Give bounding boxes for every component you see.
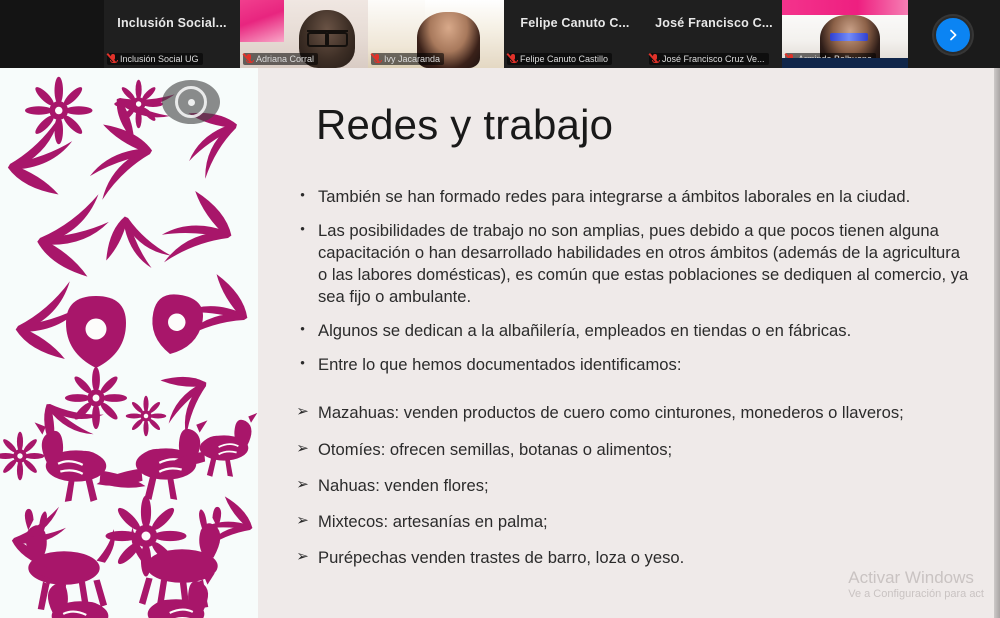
shared-slide: Redes y trabajo • También se han formado… bbox=[0, 68, 1000, 618]
mic-muted-icon bbox=[373, 54, 381, 64]
participant-tile-3[interactable]: Felipe Canuto C... Felipe Canuto Castill… bbox=[504, 0, 646, 68]
participant-tile-4[interactable]: José Francisco C... José Francisco Cruz … bbox=[646, 0, 782, 68]
sub-bullet-text: Purépechas venden trastes de barro, loza… bbox=[318, 547, 970, 569]
sub-bullet-text: Mazahuas: venden productos de cuero como… bbox=[318, 402, 970, 424]
glasses-shape bbox=[307, 30, 348, 38]
participant-tile-5[interactable]: Arminda Balbuena bbox=[782, 0, 908, 68]
screen-glow-shape bbox=[830, 33, 868, 42]
participant-name-label: Felipe Canuto Castillo bbox=[520, 54, 608, 64]
bullet-marker: • bbox=[296, 320, 309, 338]
mic-muted-icon bbox=[509, 54, 517, 64]
sub-bullet-marker: ➢ bbox=[296, 439, 309, 459]
bullet-marker: • bbox=[296, 220, 309, 238]
participant-name-label: Ivy Jacaranda bbox=[384, 54, 440, 64]
bullet-text: Algunos se dedican a la albañilería, emp… bbox=[318, 320, 970, 342]
slide-bullet-list: • También se han formado redes para inte… bbox=[296, 186, 970, 583]
participant-video bbox=[782, 0, 908, 68]
participant-display-name: Inclusión Social... bbox=[104, 16, 240, 30]
sub-bullet-text: Mixtecos: artesanías en palma; bbox=[318, 511, 970, 533]
mic-muted-icon bbox=[651, 54, 659, 64]
mic-muted-icon bbox=[245, 54, 253, 64]
participant-tile-0[interactable]: Inclusión Social... Inclusión Social UG bbox=[104, 0, 240, 68]
sub-bullet-item: ➢ Purépechas venden trastes de barro, lo… bbox=[296, 547, 970, 569]
participant-name-bar: Felipe Canuto Castillo bbox=[507, 53, 612, 65]
sub-bullet-marker: ➢ bbox=[296, 475, 309, 495]
participant-display-name: Felipe Canuto C... bbox=[504, 16, 646, 30]
embroidery-pattern bbox=[0, 68, 258, 618]
bullet-marker: • bbox=[296, 186, 309, 204]
mic-muted-icon bbox=[109, 54, 117, 64]
bullet-marker: • bbox=[296, 354, 309, 372]
sub-bullet-marker: ➢ bbox=[296, 547, 309, 567]
participant-tile-1[interactable]: Adriana Corral bbox=[240, 0, 368, 68]
participant-name-bar: Inclusión Social UG bbox=[107, 53, 203, 65]
bullet-item: • Entre lo que hemos documentados identi… bbox=[296, 354, 970, 376]
sub-bullet-text: Nahuas: venden flores; bbox=[318, 475, 970, 497]
bullet-item: • Las posibilidades de trabajo no son am… bbox=[296, 220, 970, 308]
otomi-embroidery-artwork bbox=[0, 68, 258, 618]
sub-bullet-item: ➢ Mazahuas: venden productos de cuero co… bbox=[296, 402, 970, 424]
participant-name-bar: Adriana Corral bbox=[243, 53, 318, 65]
filmstrip-next-page-button[interactable] bbox=[934, 16, 972, 54]
filmstrip-spacer-left bbox=[0, 0, 104, 68]
participant-filmstrip: Inclusión Social... Inclusión Social UG … bbox=[0, 0, 1000, 68]
bullet-item: • Algunos se dedican a la albañilería, e… bbox=[296, 320, 970, 342]
participant-name-label: Inclusión Social UG bbox=[120, 54, 199, 64]
sub-bullet-text: Otomíes: ofrecen semillas, botanas o ali… bbox=[318, 439, 970, 461]
bullet-text: Las posibilidades de trabajo no son ampl… bbox=[318, 220, 970, 308]
participant-name-bar: José Francisco Cruz Ve... bbox=[649, 53, 769, 65]
sub-bullet-marker: ➢ bbox=[296, 402, 309, 422]
participant-name-label: José Francisco Cruz Ve... bbox=[662, 54, 765, 64]
slide-sub-bullet-list: ➢ Mazahuas: venden productos de cuero co… bbox=[296, 402, 970, 568]
sub-bullet-marker: ➢ bbox=[296, 511, 309, 531]
sub-bullet-item: ➢ Mixtecos: artesanías en palma; bbox=[296, 511, 970, 533]
chevron-right-icon bbox=[946, 28, 960, 42]
zoom-screen-share-window: Inclusión Social... Inclusión Social UG … bbox=[0, 0, 1000, 618]
slide-content: Redes y trabajo • También se han formado… bbox=[288, 68, 978, 618]
participant-name-bar: Ivy Jacaranda bbox=[371, 53, 444, 65]
bullet-text: Entre lo que hemos documentados identifi… bbox=[318, 354, 970, 376]
desk-shape bbox=[782, 58, 908, 68]
slide-title: Redes y trabajo bbox=[316, 104, 613, 146]
participant-name-label: Adriana Corral bbox=[256, 54, 314, 64]
sub-bullet-item: ➢ Otomíes: ofrecen semillas, botanas o a… bbox=[296, 439, 970, 461]
bullet-text: También se han formado redes para integr… bbox=[318, 186, 970, 208]
sub-bullet-item: ➢ Nahuas: venden flores; bbox=[296, 475, 970, 497]
bullet-item: • También se han formado redes para inte… bbox=[296, 186, 970, 208]
participant-display-name: José Francisco C... bbox=[646, 16, 782, 30]
participant-tile-2[interactable]: Ivy Jacaranda bbox=[368, 0, 504, 68]
